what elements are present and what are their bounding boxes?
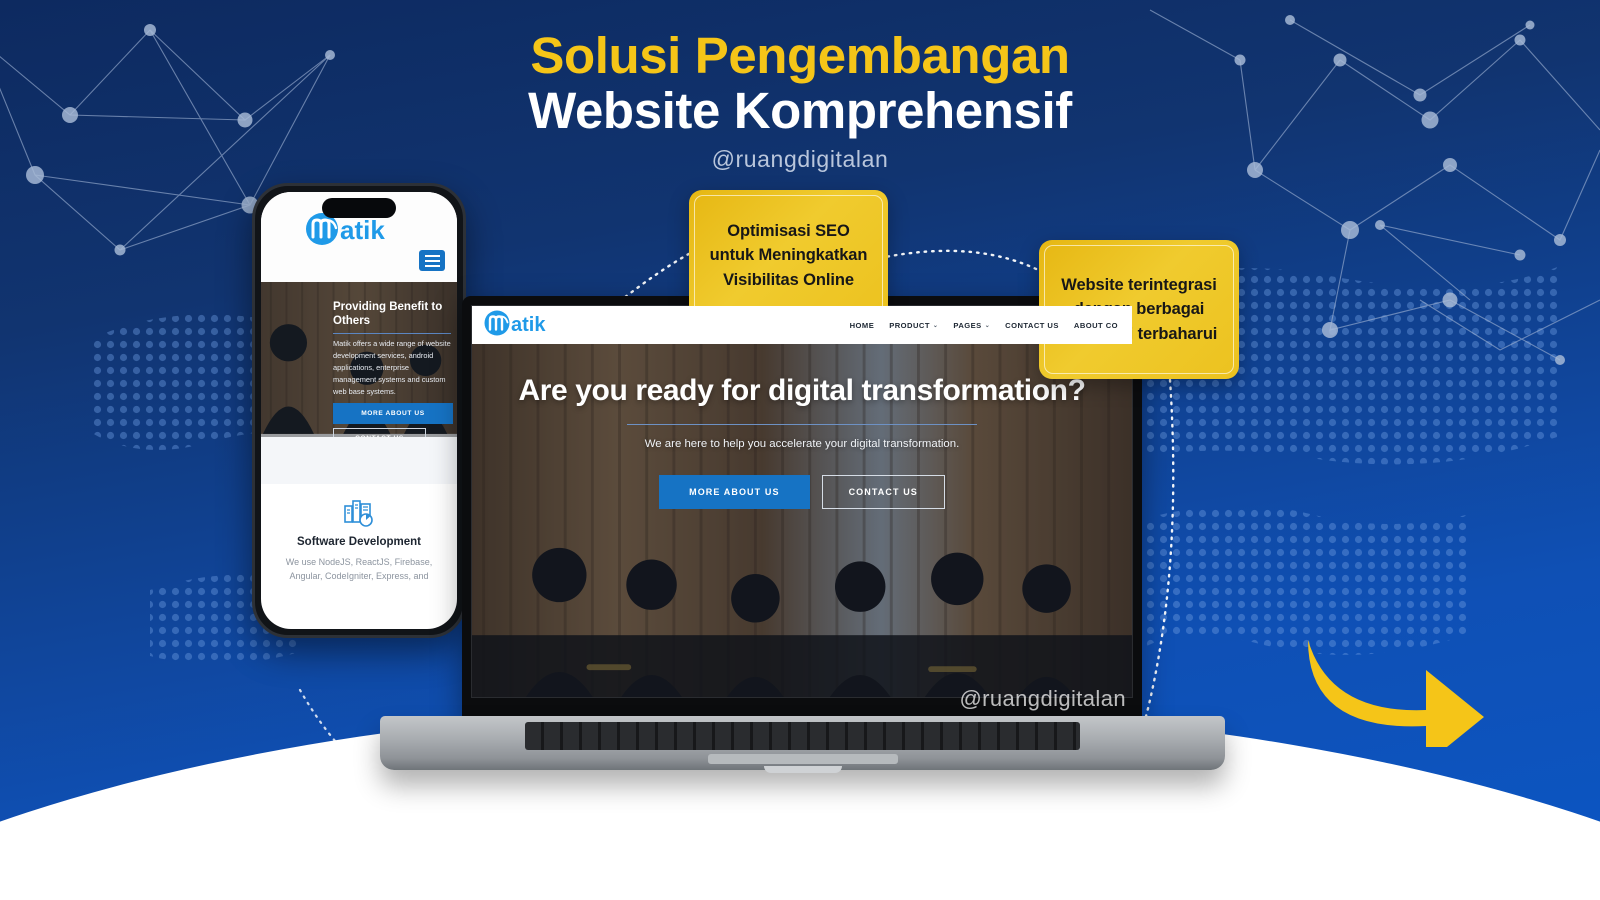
- laptop-screen: atik HOME PRODUCT ⌄ PAGES ⌄: [471, 305, 1133, 698]
- headline-handle: @ruangdigitalan: [0, 146, 1600, 173]
- headline-line-2: Website Komprehensif: [0, 83, 1600, 138]
- laptop-base: [380, 716, 1225, 770]
- poster-canvas: Solusi Pengembangan Website Komprehensif…: [0, 0, 1600, 900]
- phone-notch: [322, 198, 396, 218]
- callout-seo-text: Optimisasi SEO untuk Meningkatkan Visibi…: [705, 219, 872, 291]
- laptop-site-navbar: atik HOME PRODUCT ⌄ PAGES ⌄: [472, 306, 1132, 344]
- nav-item-pages-label: PAGES: [953, 321, 981, 330]
- laptop-hero-title: Are you ready for digital transformation…: [472, 374, 1132, 408]
- nav-item-product[interactable]: PRODUCT ⌄: [889, 321, 938, 330]
- laptop-hero-buttons: MORE ABOUT US CONTACT US: [472, 475, 1132, 509]
- chevron-down-icon: ⌄: [933, 322, 938, 329]
- curved-right-arrow-icon: [1278, 612, 1488, 747]
- nav-item-pages[interactable]: PAGES ⌄: [953, 321, 990, 330]
- nav-item-contact-us-label: CONTACT US: [1005, 321, 1059, 330]
- nav-item-about-company[interactable]: ABOUT CO: [1074, 321, 1118, 330]
- headline-line-1: Solusi Pengembangan: [0, 28, 1600, 83]
- laptop-hero-body: We are here to help you accelerate your …: [637, 435, 967, 453]
- nav-item-home-label: HOME: [850, 321, 875, 330]
- software-development-icon: [342, 498, 376, 528]
- phone-hamburger-menu-icon[interactable]: [419, 250, 445, 271]
- chevron-down-icon: ⌄: [985, 322, 990, 329]
- svg-text:atik: atik: [340, 215, 385, 245]
- laptop-hero-divider: [627, 424, 977, 425]
- laptop-contact-us-button[interactable]: CONTACT US: [822, 475, 945, 509]
- laptop-matik-logo[interactable]: atik: [484, 310, 572, 341]
- nav-item-product-label: PRODUCT: [889, 321, 930, 330]
- headline-block: Solusi Pengembangan Website Komprehensif…: [0, 28, 1600, 173]
- laptop-more-about-us-button[interactable]: MORE ABOUT US: [659, 475, 809, 509]
- nav-item-contact-us[interactable]: CONTACT US: [1005, 321, 1059, 330]
- laptop-nav-links: HOME PRODUCT ⌄ PAGES ⌄ CONTACT US: [850, 321, 1118, 330]
- nav-item-home[interactable]: HOME: [850, 321, 875, 330]
- laptop-hero-section: Are you ready for digital transformation…: [472, 344, 1132, 697]
- laptop-watermark: @ruangdigitalan: [959, 686, 1126, 712]
- callout-seo: Optimisasi SEO untuk Meningkatkan Visibi…: [689, 190, 888, 321]
- laptop-keyboard[interactable]: [525, 722, 1080, 750]
- svg-text:atik: atik: [511, 314, 546, 336]
- laptop-trackpad[interactable]: [708, 754, 898, 764]
- laptop-hero-content: Are you ready for digital transformation…: [472, 374, 1132, 509]
- nav-item-about-company-label: ABOUT CO: [1074, 321, 1118, 330]
- laptop-front-notch: [764, 766, 842, 773]
